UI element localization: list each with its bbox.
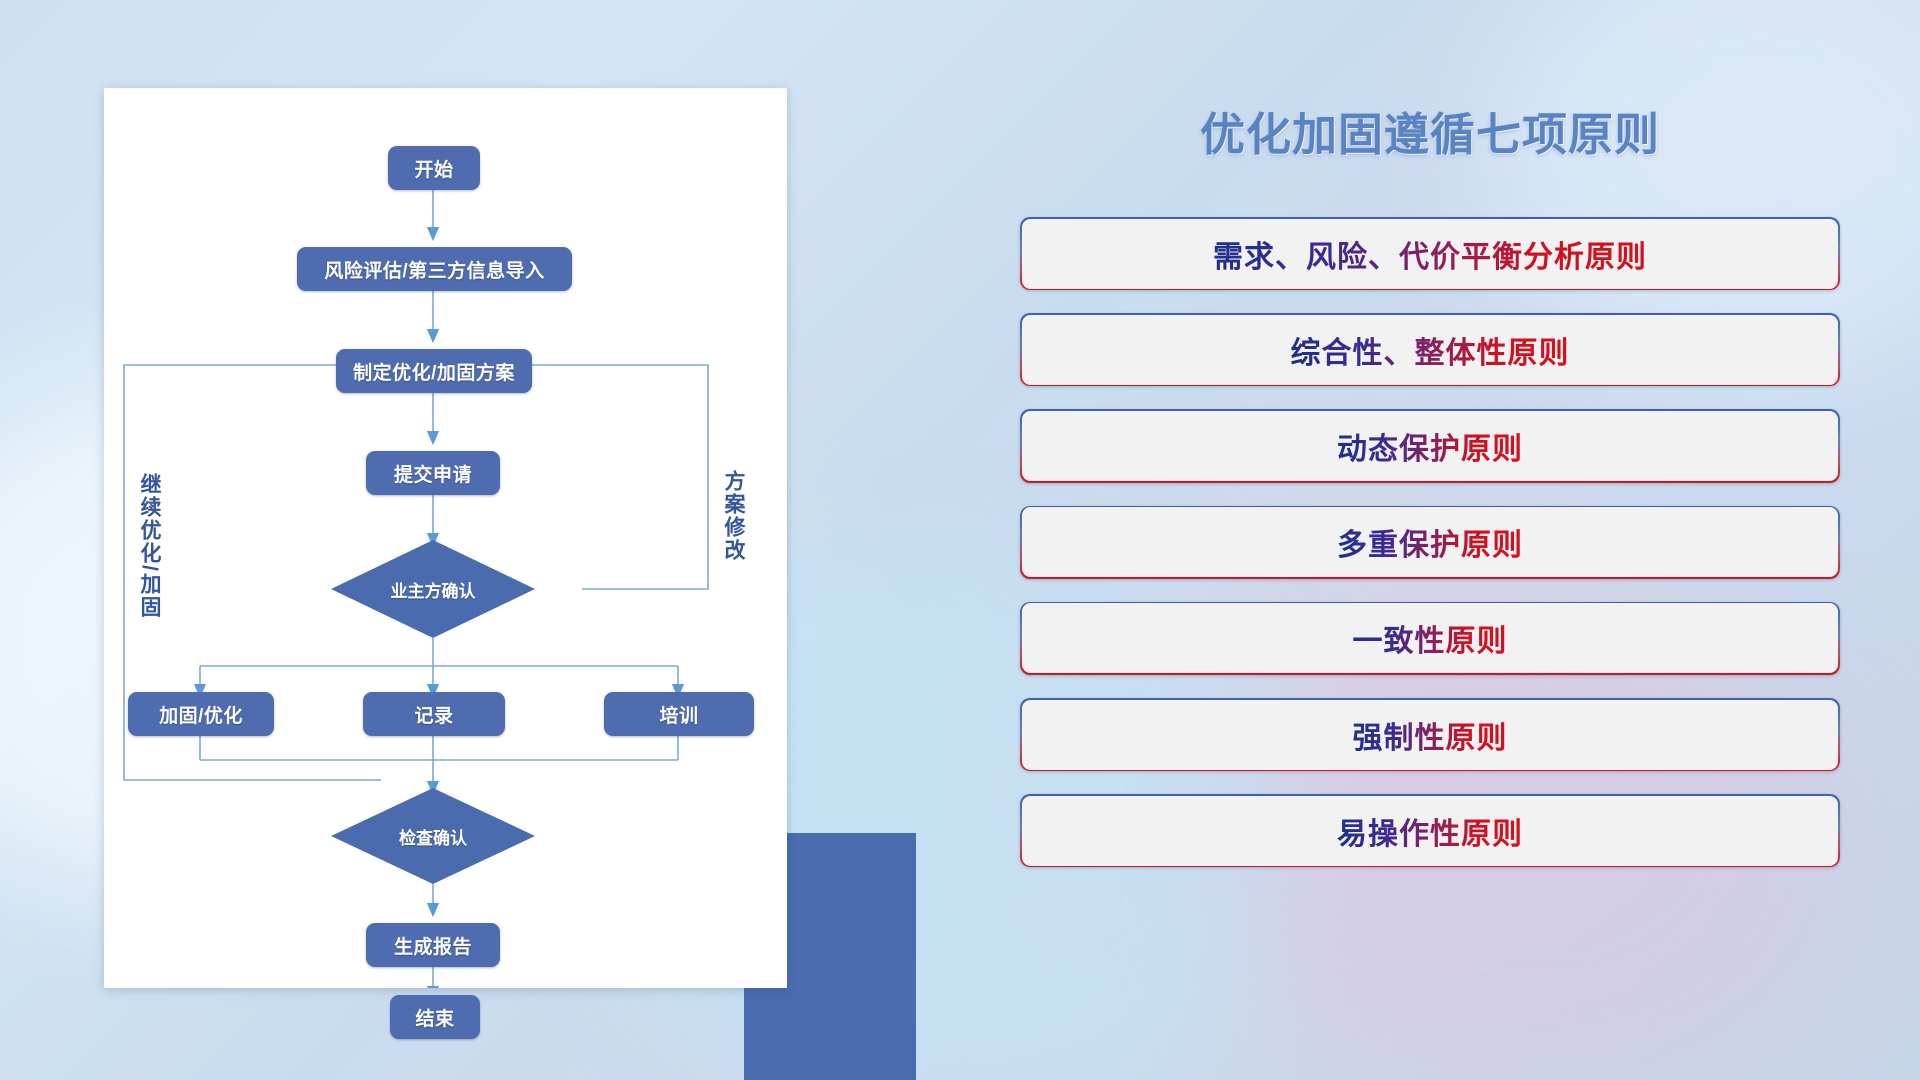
flowchart-canvas: 开始 风险评估/第三方信息导入 制定优化/加固方案 提交申请 业主方确认 加固/… (104, 88, 787, 988)
flow-node-label: 加固/优化 (159, 701, 243, 728)
flow-node-training[interactable]: 培训 (604, 692, 754, 736)
flowchart-panel: 开始 风险评估/第三方信息导入 制定优化/加固方案 提交申请 业主方确认 加固/… (104, 88, 794, 988)
flow-node-label: 结束 (415, 1004, 454, 1031)
principle-label: 动态保护原则 (1337, 424, 1523, 468)
flow-node-label: 开始 (414, 155, 453, 182)
principle-item-inner: 综合性、整体性原则 (1022, 315, 1839, 385)
principle-label: 需求、风险、代价平衡分析原则 (1213, 232, 1647, 276)
principle-item-inner: 多重保护原则 (1022, 507, 1839, 577)
flow-node-label: 制定优化/加固方案 (353, 358, 515, 385)
principle-label: 易操作性原则 (1337, 809, 1523, 853)
principle-item[interactable]: 多重保护原则 (1020, 506, 1840, 579)
principle-item-inner: 易操作性原则 (1022, 796, 1839, 866)
flow-node-end[interactable]: 结束 (390, 995, 480, 1039)
slide-canvas: 开始 风险评估/第三方信息导入 制定优化/加固方案 提交申请 业主方确认 加固/… (0, 0, 1920, 1080)
flow-node-label: 培训 (659, 701, 698, 728)
principle-item[interactable]: 一致性原则 (1020, 602, 1840, 675)
principle-label: 多重保护原则 (1337, 520, 1523, 564)
flow-node-risk-assessment[interactable]: 风险评估/第三方信息导入 (297, 247, 572, 291)
flow-node-label: 生成报告 (394, 932, 472, 959)
principle-label: 强制性原则 (1353, 713, 1508, 757)
flow-node-check-confirm[interactable]: 检查确认 (331, 788, 535, 884)
flow-node-submit-application[interactable]: 提交申请 (366, 451, 500, 495)
edge-label-plan-revision: 方案修改 (722, 470, 744, 562)
principle-item[interactable]: 动态保护原则 (1020, 409, 1840, 482)
flow-node-label: 检查确认 (399, 824, 467, 849)
flow-node-owner-confirm[interactable]: 业主方确认 (331, 540, 535, 638)
flow-node-label: 提交申请 (394, 460, 472, 487)
flow-node-label: 风险评估/第三方信息导入 (324, 256, 544, 283)
principle-label: 一致性原则 (1353, 616, 1508, 660)
principle-item[interactable]: 强制性原则 (1020, 698, 1840, 771)
flow-node-generate-report[interactable]: 生成报告 (366, 923, 500, 967)
principle-item-inner: 需求、风险、代价平衡分析原则 (1022, 219, 1839, 289)
principle-item-inner: 一致性原则 (1022, 603, 1839, 673)
principles-list: 需求、风险、代价平衡分析原则 综合性、整体性原则 动态保护原则 多重保护原则 (1020, 217, 1840, 867)
flow-node-plan[interactable]: 制定优化/加固方案 (336, 349, 532, 393)
principle-label: 综合性、整体性原则 (1291, 328, 1570, 372)
principle-item[interactable]: 易操作性原则 (1020, 794, 1840, 867)
principle-item[interactable]: 综合性、整体性原则 (1020, 313, 1840, 386)
principle-item[interactable]: 需求、风险、代价平衡分析原则 (1020, 217, 1840, 290)
flow-node-label: 业主方确认 (391, 577, 476, 602)
flow-node-record[interactable]: 记录 (363, 692, 505, 736)
principle-item-inner: 强制性原则 (1022, 700, 1839, 770)
flow-node-start[interactable]: 开始 (388, 146, 480, 190)
flowchart-card: 开始 风险评估/第三方信息导入 制定优化/加固方案 提交申请 业主方确认 加固/… (104, 88, 787, 988)
principles-panel: 优化加固遵循七项原则 需求、风险、代价平衡分析原则 综合性、整体性原则 动态保护… (1020, 84, 1840, 1024)
flow-node-label: 记录 (414, 701, 453, 728)
principles-title: 优化加固遵循七项原则 (1020, 98, 1840, 163)
edge-label-continue-optimize: 继续优化/加固 (138, 473, 160, 619)
flow-node-reinforce[interactable]: 加固/优化 (128, 692, 274, 736)
principle-item-inner: 动态保护原则 (1022, 411, 1839, 481)
